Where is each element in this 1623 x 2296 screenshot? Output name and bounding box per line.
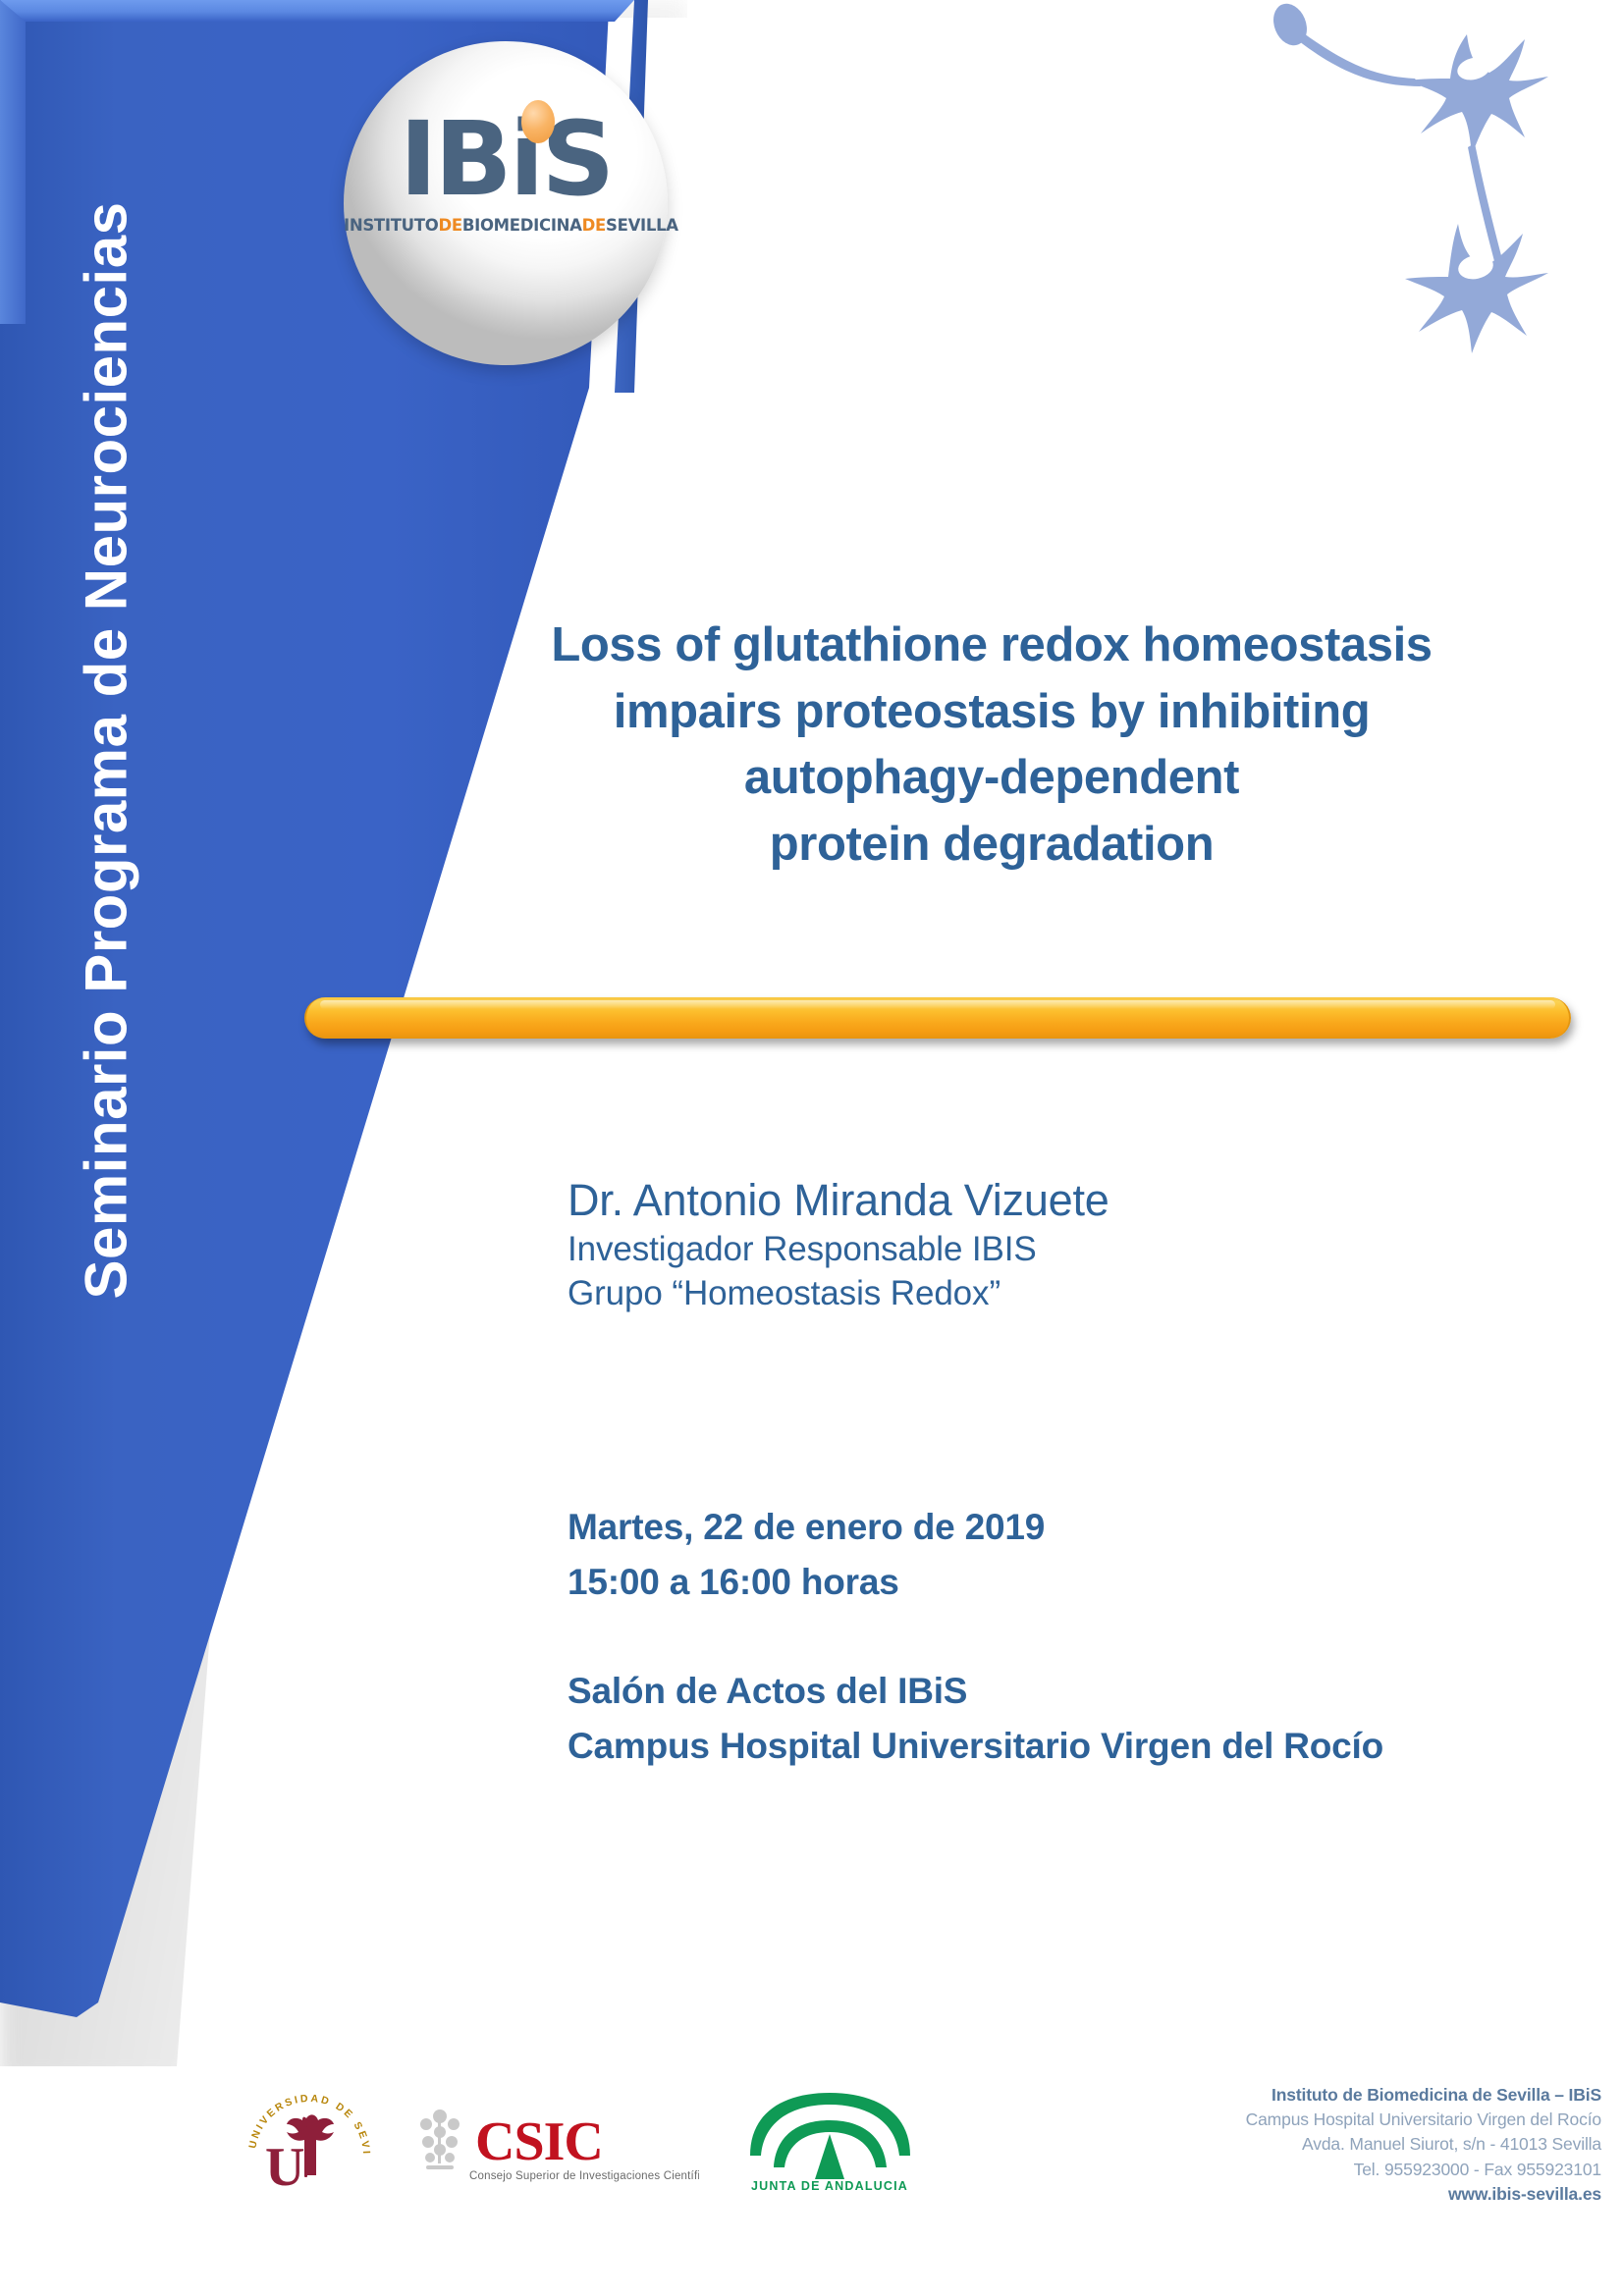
junta-arch-icon: JUNTA DE ANDALUCIA (744, 2091, 916, 2193)
title-line-3: autophagy-dependent (432, 745, 1551, 812)
footer-institute-name: Instituto de Biomedicina de Sevilla – IB… (1130, 2083, 1601, 2108)
speaker-group: Grupo “Homeostasis Redox” (568, 1272, 1109, 1316)
footer-logo-row: UNIVERSIDAD DE SEVILLA U (245, 2087, 913, 2203)
footer-phone: Tel. 955923000 - Fax 955923101 (1130, 2158, 1601, 2182)
orange-divider-bar (304, 997, 1571, 1039)
universidad-de-sevilla-logo: UNIVERSIDAD DE SEVILLA U (245, 2091, 373, 2197)
csic-logo: CSIC Consejo Superior de Investigaciones… (414, 2103, 699, 2187)
event-venue: Salón de Actos del IBiS (568, 1664, 1383, 1719)
logo-tagline-sevilla: SEVILLA (606, 216, 678, 235)
axon-connecting-icon (1468, 143, 1503, 265)
footer-contact-block: Instituto de Biomedicina de Sevilla – IB… (1130, 2083, 1601, 2207)
orange-bar-gloss (320, 1000, 1555, 1009)
title-line-2: impairs proteostasis by inhibiting (432, 679, 1551, 746)
footer-address: Avda. Manuel Siurot, s/n - 41013 Sevilla (1130, 2132, 1601, 2157)
footer-website[interactable]: www.ibis-sevilla.es (1130, 2182, 1601, 2207)
csic-logo-icon: CSIC Consejo Superior de Investigaciones… (414, 2103, 699, 2187)
axon-upper-icon (1299, 31, 1421, 86)
speaker-block: Dr. Antonio Miranda Vizuete Investigador… (568, 1174, 1109, 1315)
title-line-1: Loss of glutathione redox homeostasis (432, 613, 1551, 679)
logo-wordmark-text: IBiS (400, 99, 613, 219)
title-line-4: protein degradation (432, 812, 1551, 879)
seminar-title: Loss of glutathione redox homeostasis im… (432, 613, 1551, 878)
logo-inner: IBiS INSTITUTODEBIOMEDICINADESEVILLA (344, 108, 668, 235)
speaker-name: Dr. Antonio Miranda Vizuete (568, 1174, 1109, 1228)
logo-wordmark-ibis: IBiS (400, 108, 613, 210)
junta-de-andalucia-logo: JUNTA DE ANDALUCIA (744, 2091, 916, 2193)
wedge-bevel-left (0, 0, 26, 324)
us-letter-u: U (265, 2137, 304, 2197)
junta-wordmark: JUNTA DE ANDALUCIA (751, 2179, 908, 2193)
poster-canvas: Seminario Programa de Neurociencias IBiS… (0, 0, 1623, 2296)
neuron-illustration (1266, 0, 1590, 393)
csic-subtitle: Consejo Superior de Investigaciones Cien… (469, 2170, 699, 2182)
event-date: Martes, 22 de enero de 2019 (568, 1500, 1383, 1555)
neuron-soma-upper-icon (1407, 34, 1548, 155)
details-spacer (568, 1609, 1383, 1664)
event-campus: Campus Hospital Universitario Virgen del… (568, 1719, 1383, 1774)
neuron-soma-lower-icon (1405, 224, 1548, 353)
junta-triangle-icon (815, 2134, 844, 2179)
logo-orange-dot-icon (521, 100, 555, 143)
orange-bar-body (304, 997, 1571, 1039)
sidebar-series-title: Seminario Programa de Neurociencias (73, 0, 140, 1556)
footer-campus: Campus Hospital Universitario Virgen del… (1130, 2108, 1601, 2132)
us-seal-icon: UNIVERSIDAD DE SEVILLA U (245, 2091, 373, 2197)
ibis-logo: IBiS INSTITUTODEBIOMEDICINADESEVILLA (344, 41, 668, 365)
event-time: 15:00 a 16:00 horas (568, 1555, 1383, 1610)
csic-wordmark: CSIC (475, 2111, 603, 2172)
csic-emblem-icon (420, 2109, 460, 2169)
neuron-pair-icon (1266, 0, 1590, 393)
event-details-block: Martes, 22 de enero de 2019 15:00 a 16:0… (568, 1500, 1383, 1773)
speaker-role: Investigador Responsable IBIS (568, 1228, 1109, 1272)
